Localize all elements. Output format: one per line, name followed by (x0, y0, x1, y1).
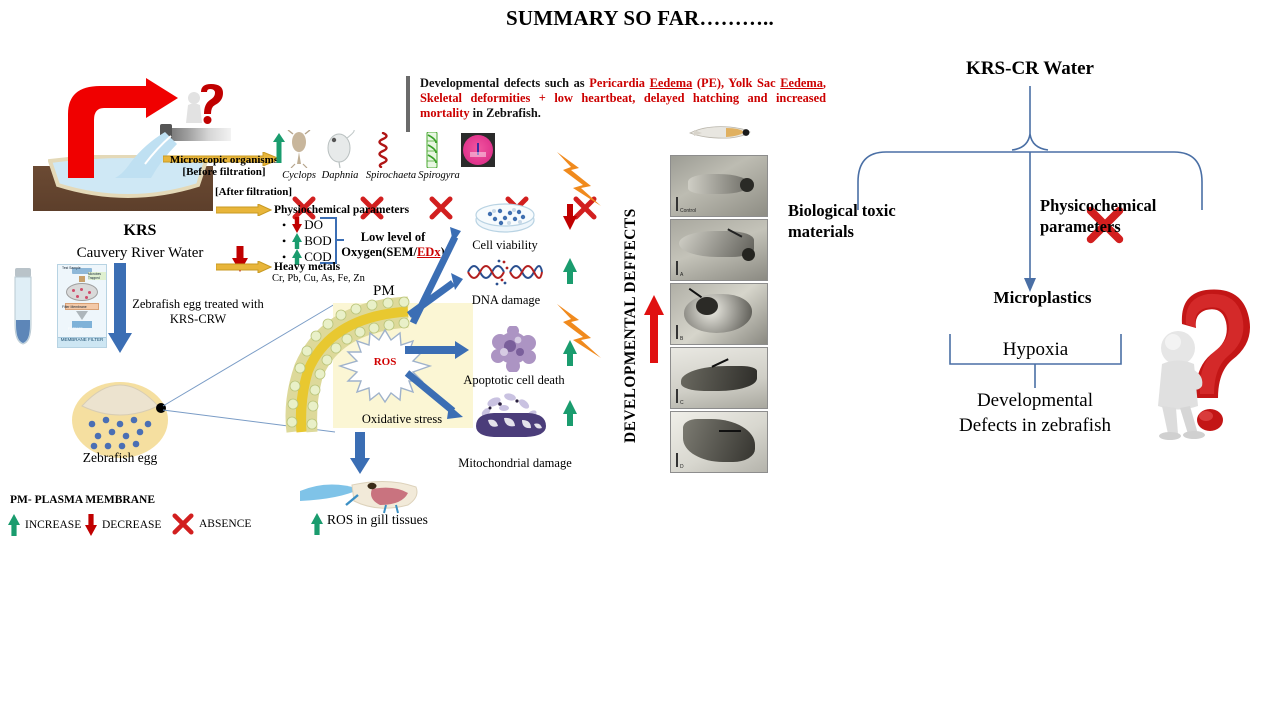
photo-tag-1: Control (680, 208, 696, 214)
gold-arrow-heavy-metals-icon (216, 261, 272, 273)
scale-bar-1 (676, 197, 678, 211)
spirogyra-icon (424, 132, 440, 168)
legend-pm-definition: PM- PLASMA MEMBRANE (10, 494, 155, 506)
scale-bar-3 (676, 325, 678, 339)
petri-dish-cells-icon (474, 202, 536, 234)
organism-label-spirogyra: Spirogyra (414, 170, 464, 181)
zebrafish-photo-5: D (670, 411, 768, 473)
effect-label-mitochondrial-damage: Mitochondrial damage (440, 456, 590, 471)
defects-seg-1: Pericardia (589, 76, 649, 90)
physicochemical-parameters-label: Physicochemical parameters (1040, 195, 1230, 237)
question-mark-figure-icon (183, 84, 233, 132)
scale-bar-4 (676, 389, 678, 403)
increase-arrow-legend-icon (8, 514, 20, 536)
organism-label-daphnia: Daphnia (318, 170, 362, 181)
defects-seg-2: Eedema (650, 76, 693, 90)
microplastics-label: Microplastics (930, 288, 1155, 308)
page-title: SUMMARY SO FAR……….. (0, 6, 1280, 31)
decrease-arrow-do-icon (292, 217, 302, 233)
cyclops-icon (286, 130, 312, 168)
legend-label-increase: INCREASE (25, 519, 81, 531)
summary-slide: SUMMARY SO FAR……….. Microscopic organism… (0, 0, 1280, 720)
photo-tag-4: C (680, 400, 684, 406)
legend-label-absence: ABSENCE (199, 518, 251, 530)
fish-gill-icon (300, 475, 425, 517)
lightning-bolt-icon-1 (555, 148, 603, 210)
physicochemical-line2: parameters (1040, 216, 1230, 237)
krs-title: KRS (60, 222, 220, 240)
effect-label-apoptotic-cell-death: Apoptotic cell death (444, 373, 584, 388)
effect-label-cell-viability: Cell viability (455, 238, 555, 253)
daphnia-icon (325, 130, 355, 168)
developmental-defects-vertical-label: DEVELOPMENTAL DEFFECTS (622, 196, 644, 456)
heavy-metals-label: Heavy metals (274, 261, 340, 273)
increase-arrow-mitochondrial-icon (563, 400, 577, 426)
mitochondria-icon (470, 392, 550, 440)
increase-arrow-organisms-icon (273, 133, 285, 163)
microscopic-organisms-label: Microscopic organisms [Before filtration… (168, 154, 280, 178)
apoptotic-cell-icon (484, 326, 542, 372)
absence-x-legend-icon (172, 513, 194, 535)
zebrafish-photo-3: B (670, 283, 768, 345)
sample-tube-icon (10, 268, 36, 346)
effect-label-dna-damage: DNA damage (458, 293, 554, 308)
zebrafish-egg-label: Zebrafish egg (58, 450, 182, 466)
zebrafish-photo-4: C (670, 347, 768, 409)
organism-label-spirochaeta: Spirochaeta (361, 170, 421, 181)
organism-label-cyclops: Cyclops (277, 170, 321, 181)
spirochaeta-icon (372, 132, 394, 168)
increase-arrow-gill-icon (311, 513, 323, 535)
developmental-defects-increase-arrow-icon (644, 295, 664, 363)
krs-subtitle: Cauvery River Water (35, 245, 245, 262)
outcome-line1: Developmental (920, 388, 1150, 413)
microscopic-line2: [Before filtration] (168, 166, 280, 178)
outcome-label: Developmental Defects in zebrafish (920, 388, 1150, 438)
defects-seg-6: in Zebrafish. (470, 106, 541, 120)
biological-toxic-line1: Biological toxic (788, 200, 948, 221)
biological-toxic-line2: materials (788, 221, 948, 242)
legend-item-absence: ABSENCE (172, 513, 251, 535)
defects-seg-0: Developmental defects such as (420, 76, 589, 90)
gold-arrow-physiochemical-icon (216, 204, 272, 216)
zebrafish-photo-1: Control (670, 155, 768, 217)
membrane-filter-step-4: FILTRATE (68, 327, 83, 331)
defects-seg-4: Eedema (780, 76, 823, 90)
question-mark-figure-icon-right (1140, 280, 1270, 440)
physiochemical-parameters-label: Physiochemical parameters (274, 204, 409, 216)
legend-item-decrease: DECREASE (85, 514, 161, 536)
microscopic-line1: Microscopic organisms (168, 154, 280, 166)
developmental-defects-callout: Developmental defects such as Pericardia… (406, 76, 826, 132)
biological-toxic-materials-label: Biological toxic materials (788, 200, 948, 242)
bullet-bod: • (282, 234, 286, 249)
scale-bar-2 (676, 261, 678, 275)
physicochemical-line1: Physicochemical (1040, 195, 1230, 216)
legend-item-increase: INCREASE (8, 514, 81, 536)
developmental-defects-text: Developmental defects such as Pericardia… (420, 76, 826, 122)
hypoxia-label: Hypoxia (948, 337, 1123, 362)
membrane-filter-step-1: Test Sample (62, 266, 81, 270)
zebrafish-photo-2: A (670, 219, 768, 281)
decrease-arrow-legend-icon (85, 514, 97, 536)
krs-cr-water-heading: KRS-CR Water (880, 58, 1180, 80)
zebrafish-photo-strip: Control A B C D (670, 155, 768, 478)
zebrafish-sketch-icon (686, 124, 754, 140)
defects-seg-3: (PE), Yolk Sac (692, 76, 780, 90)
lightning-bolt-icon-2 (555, 300, 603, 362)
increase-arrow-dna-damage-icon (563, 258, 577, 284)
photo-tag-2: A (680, 272, 683, 278)
dna-strand-icon (466, 256, 544, 288)
outcome-line2: Defects in zebrafish (920, 413, 1150, 438)
membrane-filter-caption: MEMBRANE FILTER (57, 337, 107, 342)
membrane-filter-step-2: Microbes Trapped (88, 272, 106, 280)
photo-tag-5: D (680, 464, 684, 470)
gill-label: ROS in gill tissues (327, 512, 428, 528)
blue-down-arrow-gill-icon (350, 432, 370, 474)
physiochemical-item-do: • DO (282, 217, 323, 233)
petri-dish-icon (461, 133, 495, 167)
membrane-filter-step-3: Filter Membrane (62, 305, 87, 309)
increase-arrow-bod-icon (292, 233, 302, 249)
scale-bar-5 (676, 453, 678, 467)
photo-tag-3: B (680, 336, 683, 342)
bullet-do: • (282, 218, 286, 233)
legend-label-decrease: DECREASE (102, 519, 161, 531)
after-filtration-label: [After filtration] (215, 186, 292, 198)
heavy-metals-list: Cr, Pb, Cu, As, Fe, Zn (272, 273, 365, 284)
